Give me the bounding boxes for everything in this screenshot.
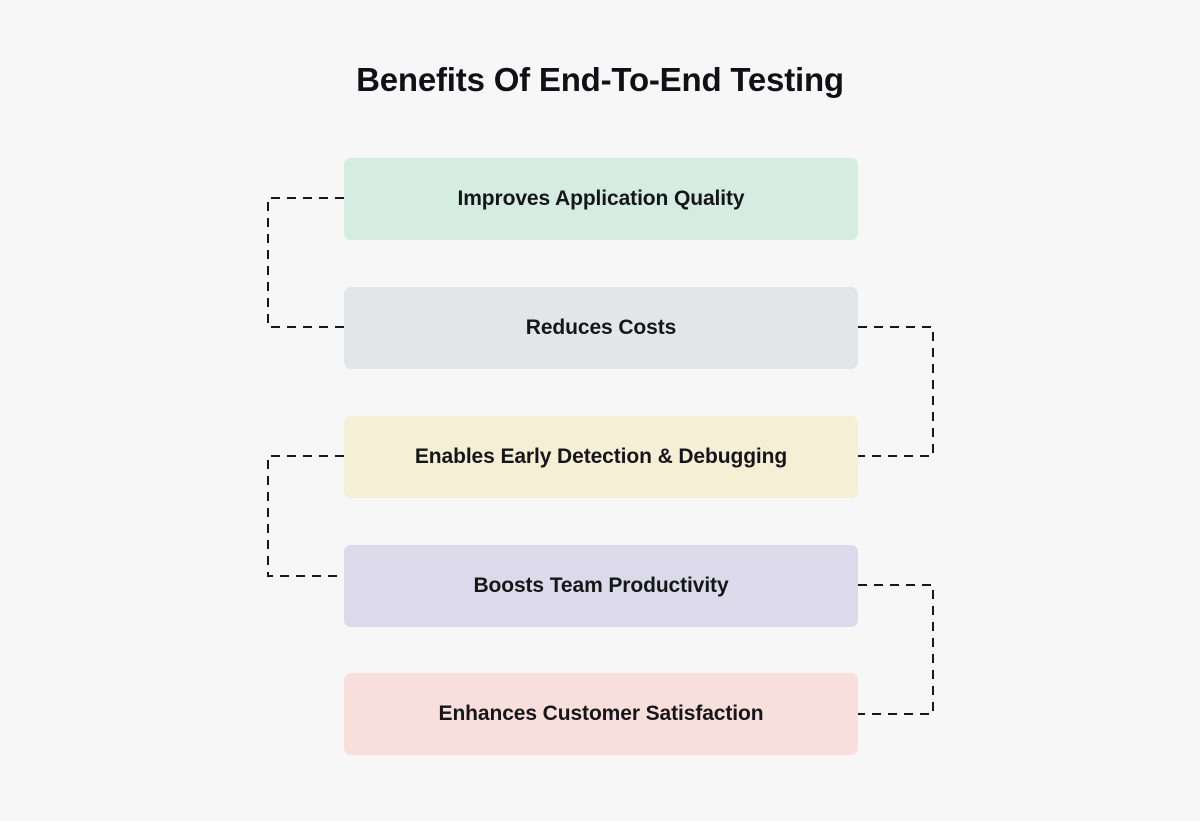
benefit-label: Boosts Team Productivity (473, 572, 728, 600)
infographic-canvas: Benefits Of End-To-End Testing Improves … (0, 0, 1200, 821)
connector-path (268, 456, 344, 576)
page-title: Benefits Of End-To-End Testing (0, 58, 1200, 102)
connector-path (858, 585, 933, 714)
benefit-box-reduces-costs: Reduces Costs (344, 287, 858, 369)
benefit-label: Enhances Customer Satisfaction (439, 700, 764, 728)
connector-path (858, 327, 933, 456)
benefit-box-boosts-team-productivity: Boosts Team Productivity (344, 545, 858, 627)
benefit-box-enhances-customer-satisfaction: Enhances Customer Satisfaction (344, 673, 858, 755)
benefit-label: Enables Early Detection & Debugging (415, 443, 787, 471)
benefit-box-enables-early-detection-debugging: Enables Early Detection & Debugging (344, 416, 858, 498)
benefit-box-improves-application-quality: Improves Application Quality (344, 158, 858, 240)
benefit-label: Reduces Costs (526, 314, 676, 342)
connector-path (268, 198, 344, 327)
benefit-label: Improves Application Quality (458, 185, 745, 213)
